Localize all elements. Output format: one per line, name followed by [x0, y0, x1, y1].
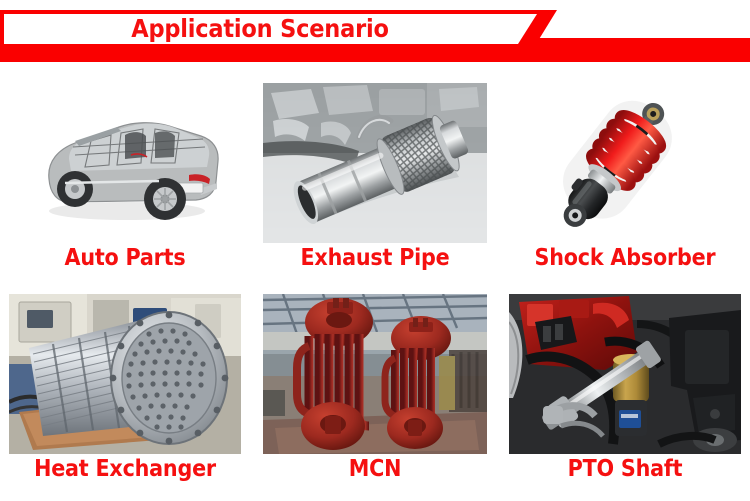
scenario-label: Shock Absorber — [500, 245, 750, 271]
banner-right-accent-bar — [520, 38, 750, 62]
scenario-label: Heat Exchanger — [0, 456, 250, 482]
scenario-label: PTO Shaft — [500, 456, 750, 482]
page-header-banner: Application Scenario — [0, 0, 750, 66]
exhaust-pipe-photo — [263, 83, 487, 243]
scenario-card-mcn[interactable]: MCN — [250, 283, 500, 491]
pto-shaft-photo — [509, 294, 741, 454]
heat-exchanger-photo — [9, 294, 241, 454]
scenario-label: MCN — [250, 456, 500, 482]
application-scenario-grid: Auto Parts — [0, 72, 750, 501]
auto-parts-photo — [13, 83, 237, 243]
shock-absorber-photo — [513, 83, 737, 243]
scenario-card-auto-parts[interactable]: Auto Parts — [0, 72, 250, 280]
scenario-card-heat-exchanger[interactable]: Heat Exchanger — [0, 283, 250, 491]
scenario-card-pto-shaft[interactable]: PTO Shaft — [500, 283, 750, 491]
scenario-card-shock-absorber[interactable]: Shock Absorber — [500, 72, 750, 280]
scenario-label: Auto Parts — [0, 245, 250, 271]
grid-row: Auto Parts — [0, 72, 750, 280]
scenario-card-exhaust-pipe[interactable]: Exhaust Pipe — [250, 72, 500, 280]
scenario-label: Exhaust Pipe — [250, 245, 500, 271]
page-title: Application Scenario — [0, 13, 520, 45]
mcn-photo — [263, 294, 487, 454]
grid-row: Heat Exchanger — [0, 283, 750, 491]
